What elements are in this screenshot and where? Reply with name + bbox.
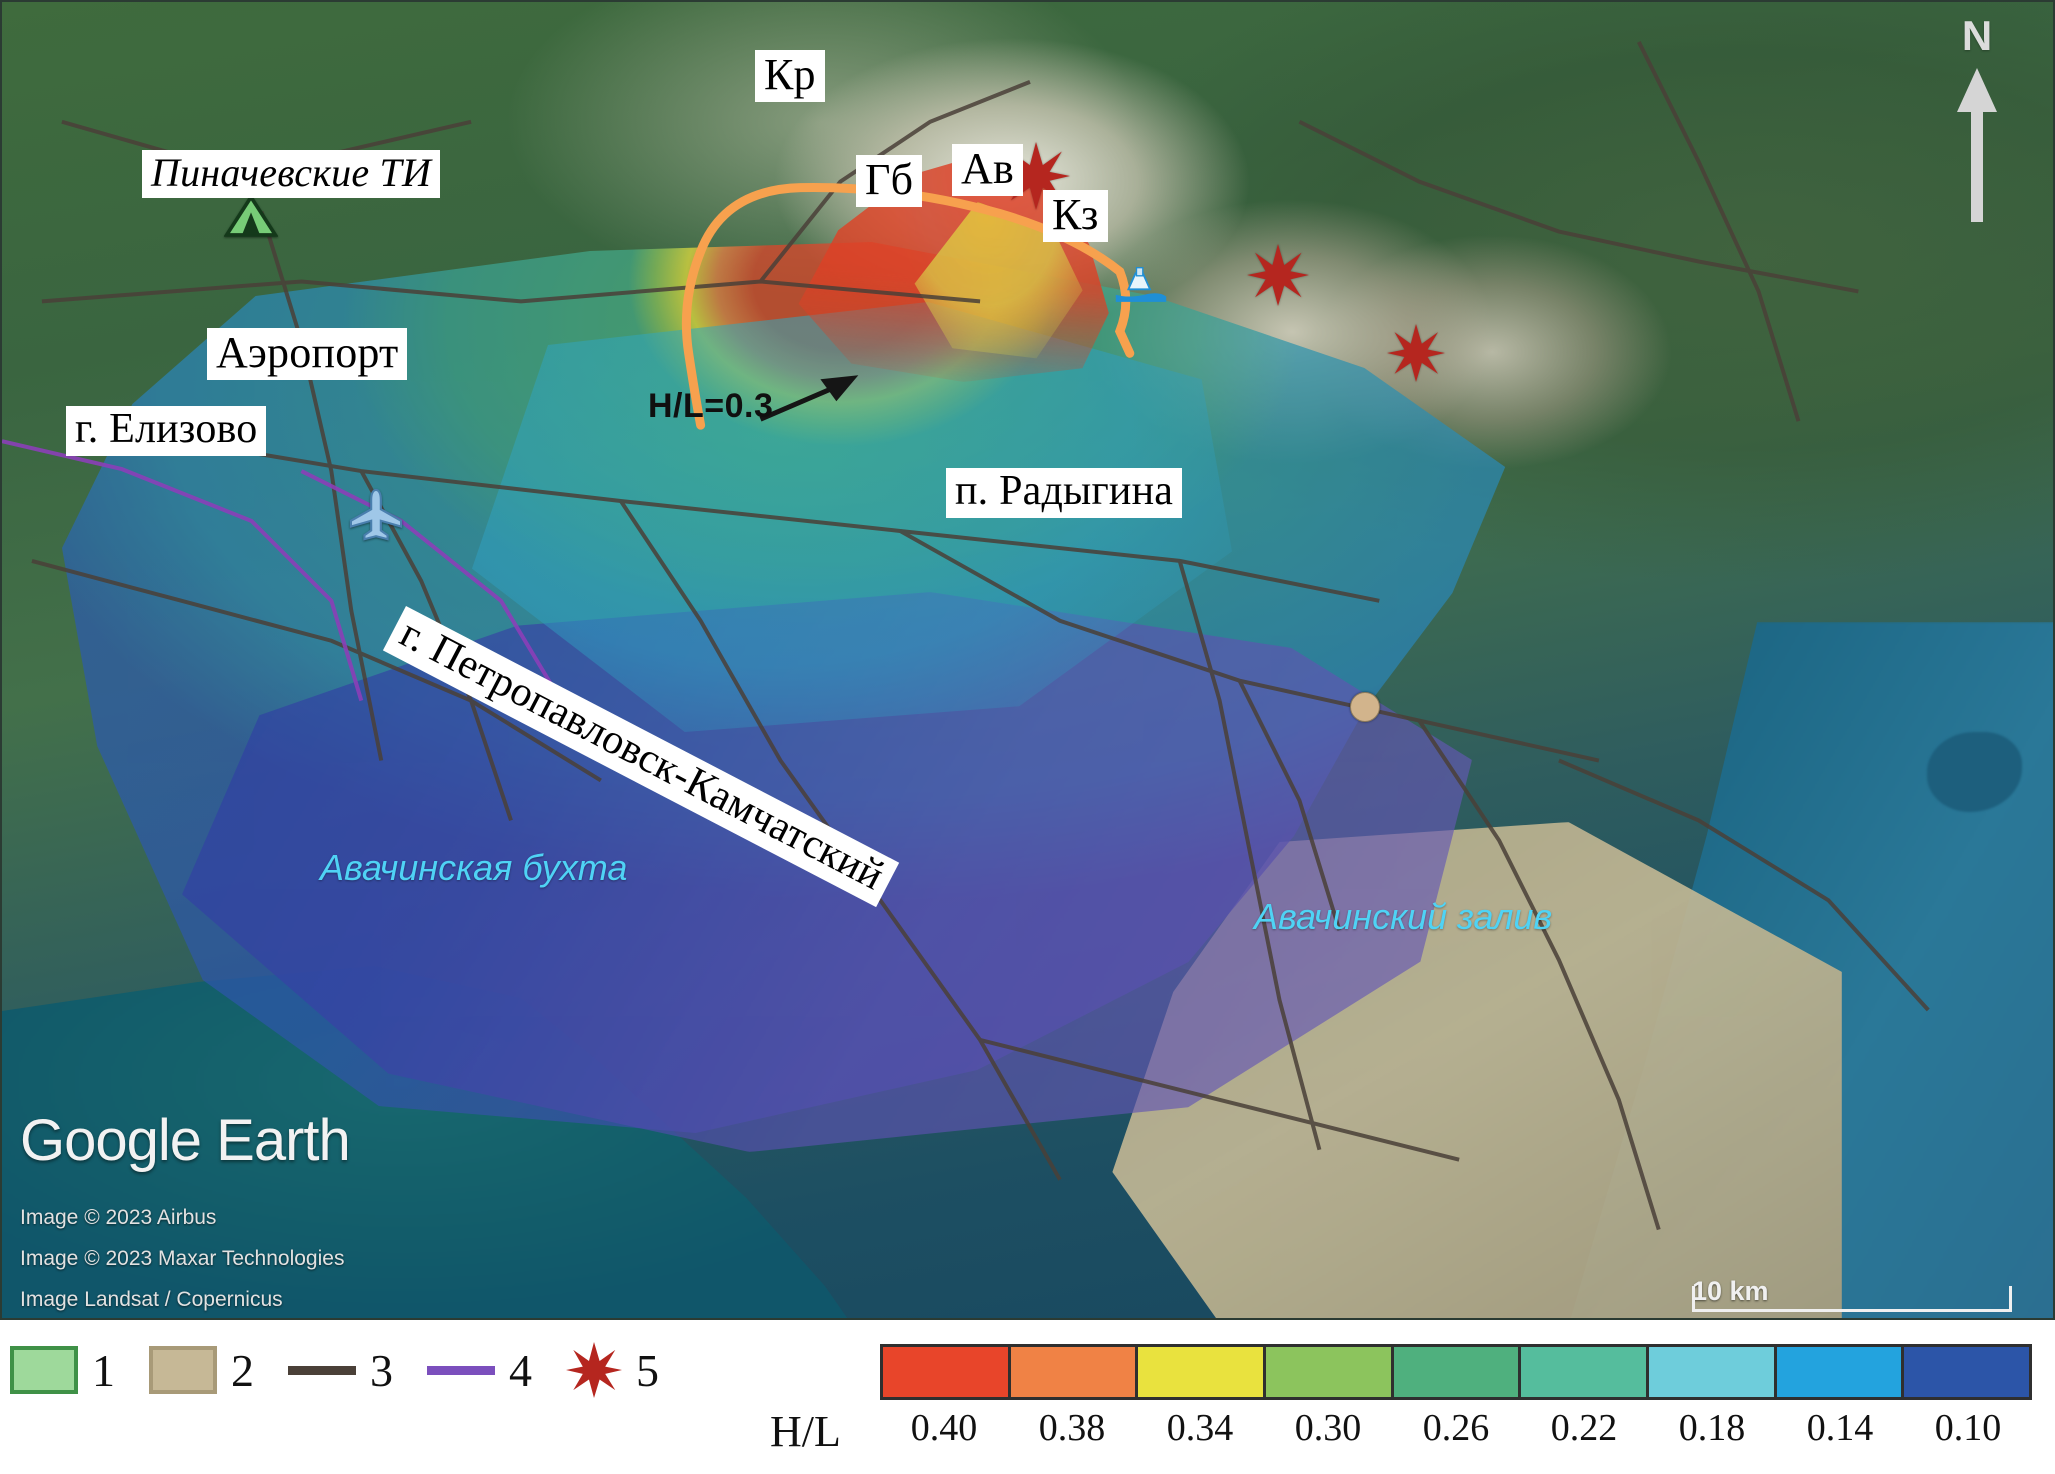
legend-number-4: 4 (509, 1344, 532, 1397)
label-av[interactable]: Ав (952, 144, 1023, 196)
hot-springs-tent-icon[interactable] (224, 194, 278, 243)
airport-plane-icon[interactable] (347, 488, 405, 547)
tent-icon (224, 194, 278, 238)
settlement-dot-icon (1350, 692, 1380, 722)
colorbar-tick-8: 0.10 (1935, 1406, 2002, 1450)
label-kz[interactable]: Кз (1043, 190, 1108, 242)
volcano-starburst-icon (1387, 324, 1445, 382)
scale-bar-tick-left (1692, 1286, 1695, 1312)
legend-item-5: 5 (566, 1342, 659, 1398)
legend-number-5: 5 (636, 1344, 659, 1397)
label-kr[interactable]: Кр (755, 50, 825, 102)
colorbar-cell-6 (1649, 1347, 1777, 1397)
colorbar-tick-3: 0.30 (1295, 1406, 1362, 1450)
label-gb[interactable]: Гб (856, 155, 922, 207)
colorbar-tick-2: 0.34 (1167, 1406, 1234, 1450)
legend-swatch-vegetation (10, 1346, 78, 1394)
north-arrow: N (1937, 12, 2017, 222)
scale-bar-label: 10 km (1692, 1276, 1769, 1307)
colorbar-gradient (880, 1344, 2032, 1400)
google-earth-logo-text: Google Earth (20, 1108, 350, 1173)
attribution-line-2: Image © 2023 Maxar Technologies (20, 1239, 344, 1280)
colorbar-cell-4 (1394, 1347, 1522, 1397)
legend-volcano-starburst-icon (566, 1342, 622, 1398)
plane-icon (347, 488, 405, 542)
legend-bar: 1 2 3 4 5 H/L 0.400. (0, 1320, 2055, 1474)
legend-line-road (288, 1366, 356, 1375)
figure-root: H/L=0.3 (0, 0, 2055, 1474)
ski-resort-icon[interactable] (1114, 262, 1168, 309)
scale-bar-rule (1692, 1309, 2012, 1312)
legend-line-boundary (427, 1366, 495, 1375)
ski-icon (1114, 262, 1168, 304)
colorbar-cell-7 (1777, 1347, 1905, 1397)
town-dot-radygina[interactable] (1350, 692, 1380, 722)
legend-number-2: 2 (231, 1344, 254, 1397)
colorbar-cell-0 (883, 1347, 1011, 1397)
attribution-line-3: Image Landsat / Copernicus (20, 1280, 344, 1320)
label-elizovo[interactable]: г. Елизово (66, 406, 266, 456)
colorbar-tick-0: 0.40 (911, 1406, 978, 1450)
colorbar-tick-labels: 0.400.380.340.300.260.220.180.140.10 (880, 1406, 2032, 1456)
colorbar-caption: H/L (770, 1406, 841, 1457)
legend-symbol-list: 1 2 3 4 5 (10, 1342, 659, 1398)
volcano-marker-kz[interactable] (1387, 324, 1445, 387)
colorbar-cell-1 (1011, 1347, 1139, 1397)
attribution-block: Image © 2023 Airbus Image © 2023 Maxar T… (20, 1198, 344, 1320)
colorbar-tick-7: 0.14 (1807, 1406, 1874, 1450)
volcano-starburst-icon (1247, 244, 1309, 306)
label-pinachevskie-ti[interactable]: Пиначевские ТИ (142, 150, 440, 198)
legend-number-1: 1 (92, 1344, 115, 1397)
label-airport[interactable]: Аэропорт (207, 328, 407, 380)
google-earth-logo: Google Earth (20, 1107, 350, 1174)
colorbar-cell-5 (1521, 1347, 1649, 1397)
legend-item-4: 4 (427, 1344, 532, 1397)
map-canvas[interactable]: H/L=0.3 (0, 0, 2055, 1320)
colorbar-cell-3 (1266, 1347, 1394, 1397)
colorbar-tick-1: 0.38 (1039, 1406, 1106, 1450)
contour-annotation: H/L=0.3 (648, 387, 773, 426)
colorbar-tick-4: 0.26 (1423, 1406, 1490, 1450)
label-radygina[interactable]: п. Радыгина (946, 468, 1182, 518)
legend-item-1: 1 (10, 1344, 115, 1397)
colorbar: 0.400.380.340.300.260.220.180.140.10 (880, 1344, 2032, 1456)
scale-bar: 10 km (1692, 1280, 2012, 1310)
colorbar-cell-8 (1904, 1347, 2029, 1397)
legend-item-3: 3 (288, 1344, 393, 1397)
scale-bar-tick-right (2009, 1286, 2012, 1312)
attribution-line-1: Image © 2023 Airbus (20, 1198, 344, 1239)
colorbar-cell-2 (1138, 1347, 1266, 1397)
north-letter: N (1962, 12, 1992, 60)
colorbar-tick-6: 0.18 (1679, 1406, 1746, 1450)
volcano-marker-av[interactable] (1247, 244, 1309, 311)
legend-item-2: 2 (149, 1344, 254, 1397)
colorbar-tick-5: 0.22 (1551, 1406, 1618, 1450)
legend-swatch-sand (149, 1346, 217, 1394)
north-arrow-icon (1937, 64, 2017, 224)
hydronym-avachinskaya-bukhta: Авачинская бухта (320, 847, 627, 889)
legend-number-3: 3 (370, 1344, 393, 1397)
hydronym-avachinskiy-zaliv: Авачинский залив (1254, 896, 1552, 938)
